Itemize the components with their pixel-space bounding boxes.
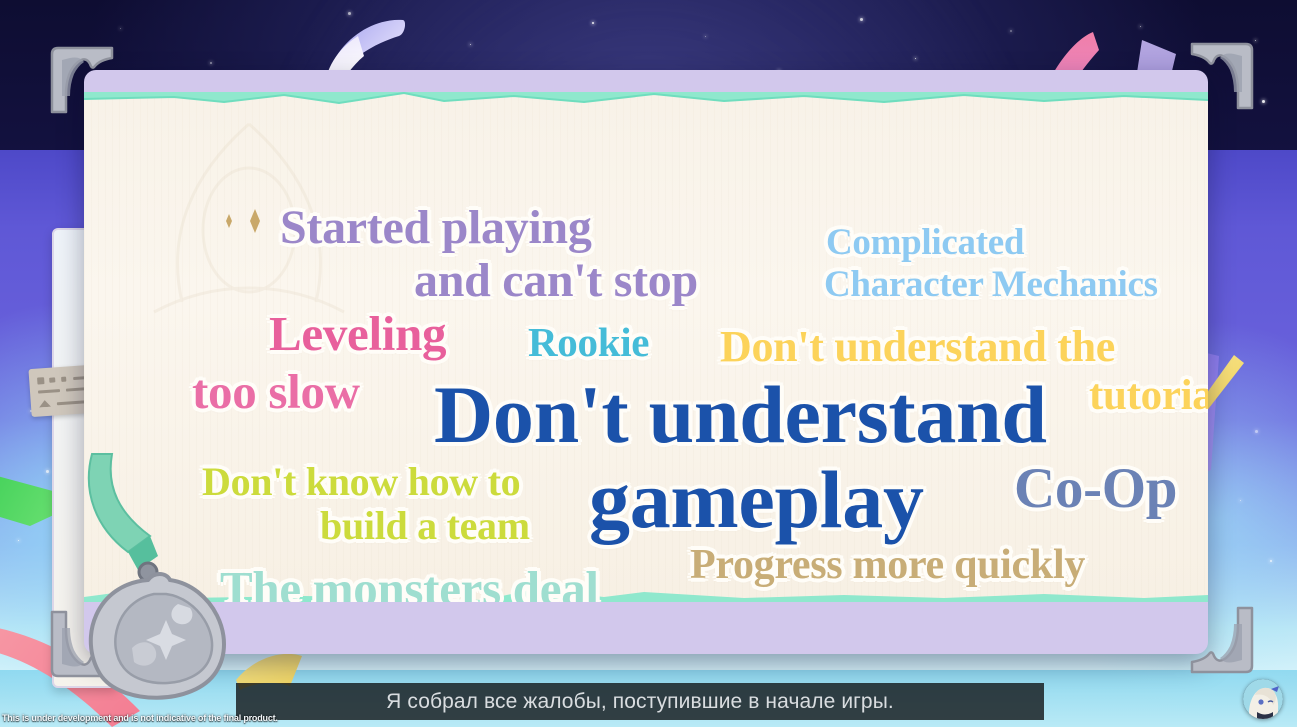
word-cloud-term: build a team	[320, 506, 530, 545]
frame-corner-top-left	[48, 44, 116, 116]
word-cloud-term: Rookie	[528, 322, 649, 362]
word-cloud-term: Don't understand the	[720, 325, 1115, 368]
word-cloud-term: and can't stop	[414, 257, 698, 304]
word-cloud-term: Don't understand	[434, 375, 1047, 455]
development-disclaimer: This is under development and is not ind…	[2, 713, 278, 723]
scene-background: Started playingand can't stopComplicated…	[0, 0, 1297, 727]
frame-corner-top-right	[1188, 40, 1256, 112]
word-cloud-term: The monsters deal	[220, 565, 599, 602]
word-cloud-term: Started playing	[280, 204, 592, 251]
word-cloud-term: Complicated	[826, 225, 1024, 261]
word-cloud-term: gameplay	[589, 460, 924, 540]
subtitle-text: Я собрал все жалобы, поступившие в начал…	[386, 690, 894, 714]
word-cloud-term: Character Mechanics	[824, 267, 1158, 303]
medallion-ornament	[62, 452, 262, 702]
word-cloud-term: tutorial	[1089, 375, 1208, 417]
word-cloud-term: too slow	[192, 368, 360, 416]
frame-corner-bottom-right	[1188, 604, 1256, 676]
word-cloud-term: Progress more quickly	[690, 545, 1085, 586]
channel-avatar-watermark	[1243, 679, 1283, 719]
subtitle-bar: Я собрал все жалобы, поступившие в начал…	[236, 683, 1044, 720]
word-cloud-term: Co-Op	[1014, 461, 1177, 517]
word-cloud-term: Leveling	[269, 310, 446, 358]
